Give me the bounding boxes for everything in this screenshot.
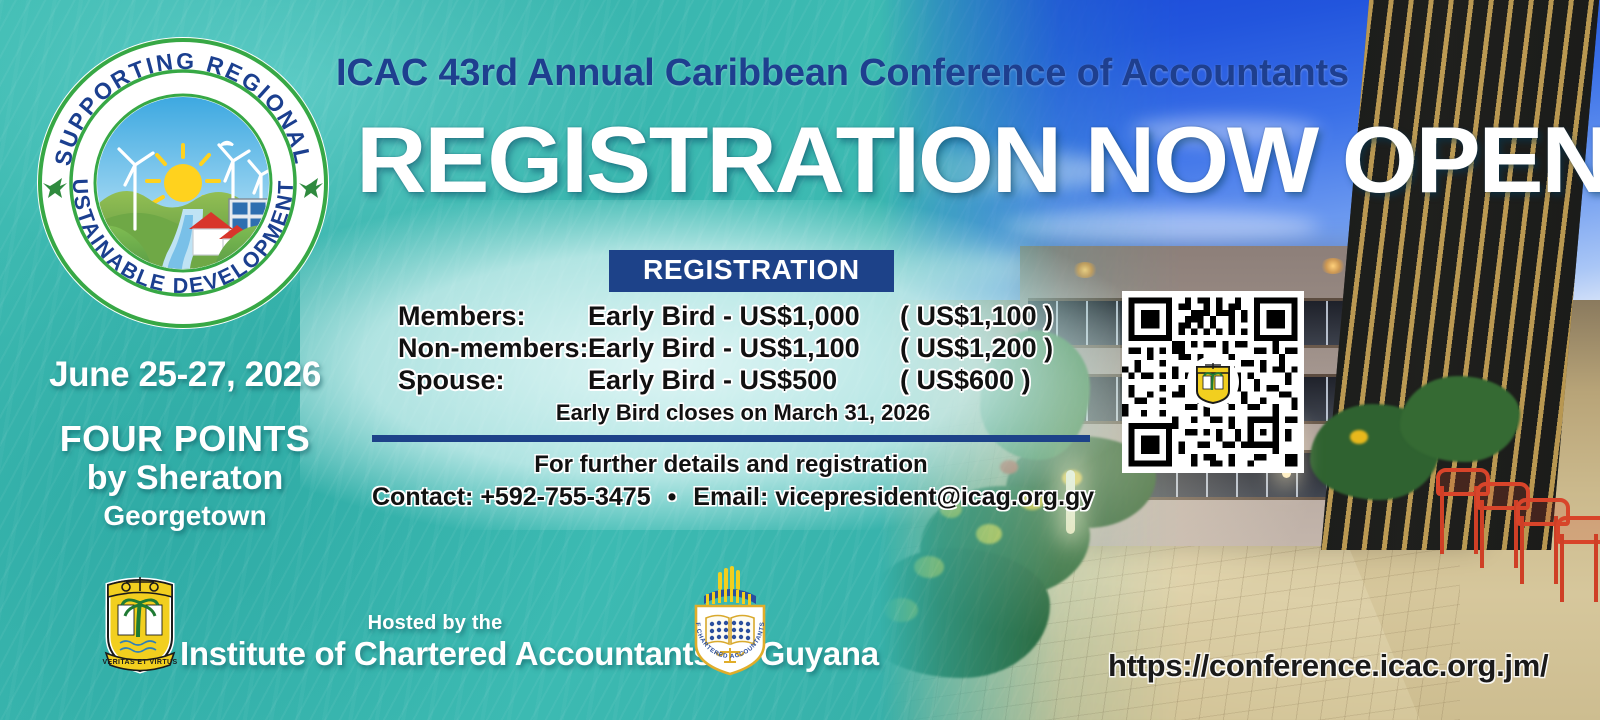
early-bird-deadline: Early Bird closes on March 31, 2026	[398, 400, 1088, 426]
qr-center-logo	[1187, 356, 1239, 408]
pricing-table: Members: Early Bird - US$1,000 ( US$1,10…	[398, 300, 1078, 396]
building-lamp	[1320, 258, 1346, 274]
host-name: Institute of Chartered Accountants of Gu…	[180, 635, 690, 673]
website-url[interactable]: https://conference.icac.org.jm/	[1108, 648, 1548, 684]
price-standard: ( US$1,100 )	[900, 300, 1053, 332]
price-standard: ( US$600 )	[900, 364, 1031, 396]
page-title: ICAC 43rd Annual Caribbean Conference of…	[336, 52, 1356, 95]
venue-city: Georgetown	[30, 499, 340, 533]
price-label: Members:	[398, 300, 588, 332]
contact-email[interactable]: Email: vicepresident@icag.org.gy	[693, 483, 1094, 511]
guyana-coat-of-arms-icon: VERITAS ET VIRTUS	[100, 565, 180, 677]
table-row: Members: Early Bird - US$1,000 ( US$1,10…	[398, 300, 1078, 332]
venue-name-line-2: by Sheraton	[30, 459, 340, 497]
svg-text:VERITAS ET VIRTUS: VERITAS ET VIRTUS	[102, 659, 177, 666]
registration-badge: REGISTRATION	[609, 250, 894, 292]
price-early: Early Bird - US$1,000	[588, 300, 900, 332]
table-row: Spouse: Early Bird - US$500 ( US$600 )	[398, 364, 1078, 396]
contact-separator: •	[658, 483, 687, 511]
sustainable-development-seal-icon: SUPPORTING REGIONAL SUSTAINABLE DEVELOPM…	[33, 33, 333, 333]
flower	[1350, 430, 1368, 444]
hosted-by-label: Hosted by the	[180, 612, 690, 635]
contact-block: For further details and registration Con…	[372, 449, 1090, 514]
qr-code[interactable]	[1122, 291, 1304, 473]
price-standard: ( US$1,200 )	[900, 332, 1053, 364]
section-divider	[372, 435, 1090, 442]
table-row: Non-members: Early Bird - US$1,100 ( US$…	[398, 332, 1078, 364]
hosted-by-block: Hosted by the Institute of Chartered Acc…	[180, 612, 690, 673]
shrub	[1400, 376, 1520, 462]
contact-heading: For further details and registration	[372, 449, 1090, 481]
flower	[884, 598, 918, 622]
headline: REGISTRATION NOW OPEN	[356, 114, 1406, 206]
contact-phone[interactable]: Contact: +592-755-3475	[372, 483, 651, 511]
venue-block: FOUR POINTS by Sheraton Georgetown	[30, 420, 340, 533]
contact-details: Contact: +592-755-3475 • Email: vicepres…	[372, 481, 1090, 514]
conference-dates: June 25-27, 2026	[30, 355, 340, 395]
venue-name-line-1: FOUR POINTS	[30, 420, 340, 459]
conference-banner: SUPPORTING REGIONAL SUSTAINABLE DEVELOPM…	[0, 0, 1600, 720]
bar-stool	[1556, 516, 1600, 602]
price-label: Spouse:	[398, 364, 588, 396]
flower	[914, 556, 944, 578]
icag-crest-icon: INSTITUTE OF CHARTERED ACCOUNTANTS OF GU…	[682, 560, 778, 676]
price-label: Non-members:	[398, 332, 588, 364]
price-early: Early Bird - US$1,100	[588, 332, 900, 364]
price-early: Early Bird - US$500	[588, 364, 900, 396]
